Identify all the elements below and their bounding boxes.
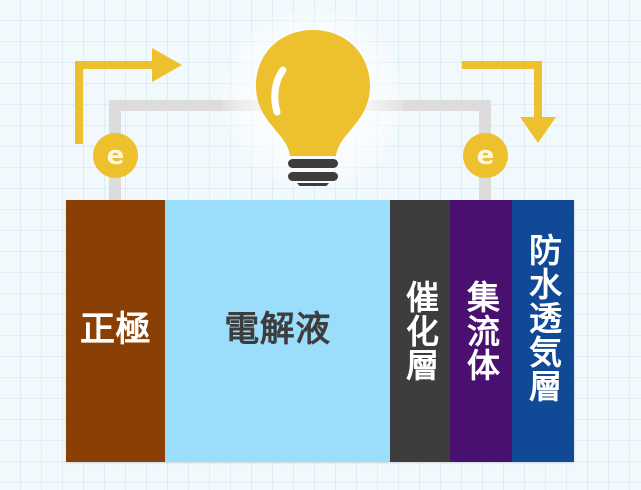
layer-label-catalyst: 催化層 — [404, 280, 437, 382]
layer-label-current-collector: 集流体 — [465, 280, 498, 382]
battery-structure-diagram: e e 正極 電解液 催化層 集流体 防水透気層 — [0, 0, 641, 490]
light-bulb-icon — [252, 28, 374, 186]
layer-label-cathode: 正極 — [80, 313, 151, 349]
cell-layer-stack: 正極 電解液 催化層 集流体 防水透気層 — [66, 200, 574, 462]
layer-electrolyte[interactable]: 電解液 — [165, 200, 390, 462]
layer-label-electrolyte: 電解液 — [224, 313, 331, 349]
electron-flow-arrow-left-icon — [60, 44, 185, 149]
layer-waterproof-membrane[interactable]: 防水透気層 — [512, 200, 574, 462]
layer-catalyst[interactable]: 催化層 — [390, 200, 450, 462]
layer-label-waterproof-membrane: 防水透気層 — [527, 233, 560, 403]
layer-current-collector[interactable]: 集流体 — [450, 200, 512, 462]
electron-flow-arrow-right-icon — [460, 44, 580, 149]
layer-cathode[interactable]: 正極 — [66, 200, 165, 462]
